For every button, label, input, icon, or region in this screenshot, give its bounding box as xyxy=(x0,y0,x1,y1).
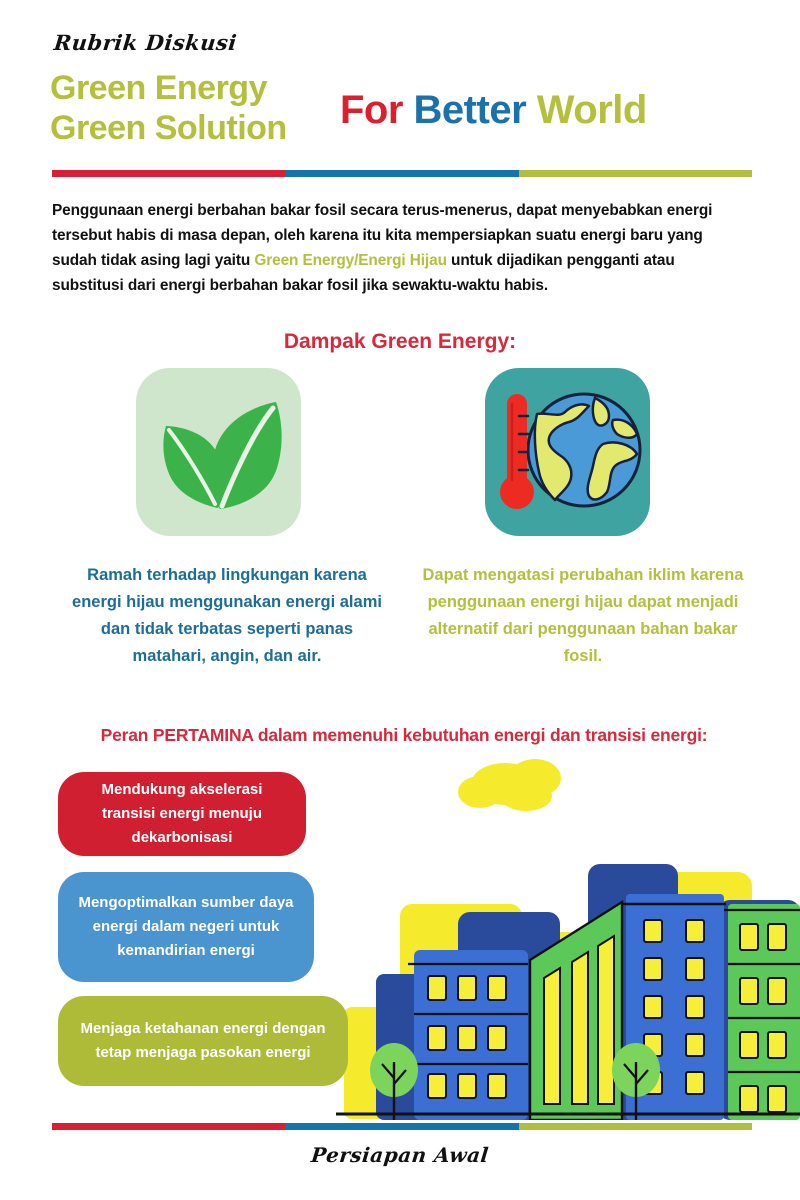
title-left-block: Green Energy Green Solution xyxy=(50,68,287,148)
rule-segment-blue xyxy=(285,170,518,177)
impact-caption-left: Ramah terhadap lingkungan karena energi … xyxy=(62,562,392,670)
leaf-icon-container xyxy=(136,368,301,536)
intro-paragraph: Penggunaan energi berbahan bakar fosil s… xyxy=(52,198,750,298)
title-line-2: Green Solution xyxy=(50,108,287,148)
rule-segment-olive xyxy=(519,170,752,177)
footer-rule-segment-olive xyxy=(519,1123,752,1130)
impact-section-heading: Dampak Green Energy: xyxy=(0,330,800,354)
building-green-right xyxy=(724,904,800,1120)
green-city-illustration xyxy=(330,752,800,1120)
title-word-for: For xyxy=(340,88,414,132)
footer-tricolor-rule xyxy=(52,1123,752,1130)
footer-label: Persiapan Awal xyxy=(0,1143,800,1167)
title-line-1: Green Energy xyxy=(50,68,287,108)
globe-thermometer-icon xyxy=(485,368,650,536)
footer-rule-segment-blue xyxy=(285,1123,518,1130)
infographic-page: Rubrik Diskusi Green Energy Green Soluti… xyxy=(0,0,800,1200)
pertamina-section-heading: Peran PERTAMINA dalam memenuhi kebutuhan… xyxy=(56,722,752,748)
city-scene-svg xyxy=(330,752,800,1120)
header-tricolor-rule xyxy=(52,170,752,177)
cloud-shape xyxy=(458,759,561,811)
rule-segment-red xyxy=(52,170,285,177)
intro-highlight-green-energy: Green Energy/Energi Hijau xyxy=(254,252,447,269)
pertamina-pill-1: Mendukung akselerasi transisi energi men… xyxy=(58,772,306,856)
pertamina-pill-2: Mengoptimalkan sumber daya energi dalam … xyxy=(58,872,314,982)
globe-thermometer-icon-container xyxy=(485,368,650,536)
building-blue-left xyxy=(408,950,528,1120)
title-right-block: For Better World xyxy=(340,88,647,133)
title-word-better: Better xyxy=(414,88,537,132)
impact-icon-row xyxy=(50,368,750,553)
impact-caption-right: Dapat mengatasi perubahan iklim karena p… xyxy=(418,562,748,670)
title-word-world: World xyxy=(537,88,647,132)
rubric-label: Rubrik Diskusi xyxy=(53,30,239,55)
main-title: Green Energy Green Solution For Better W… xyxy=(50,68,750,158)
pertamina-pill-3: Menjaga ketahanan energi dengan tetap me… xyxy=(58,996,348,1086)
leaf-icon xyxy=(136,368,301,536)
footer-rule-segment-red xyxy=(52,1123,285,1130)
